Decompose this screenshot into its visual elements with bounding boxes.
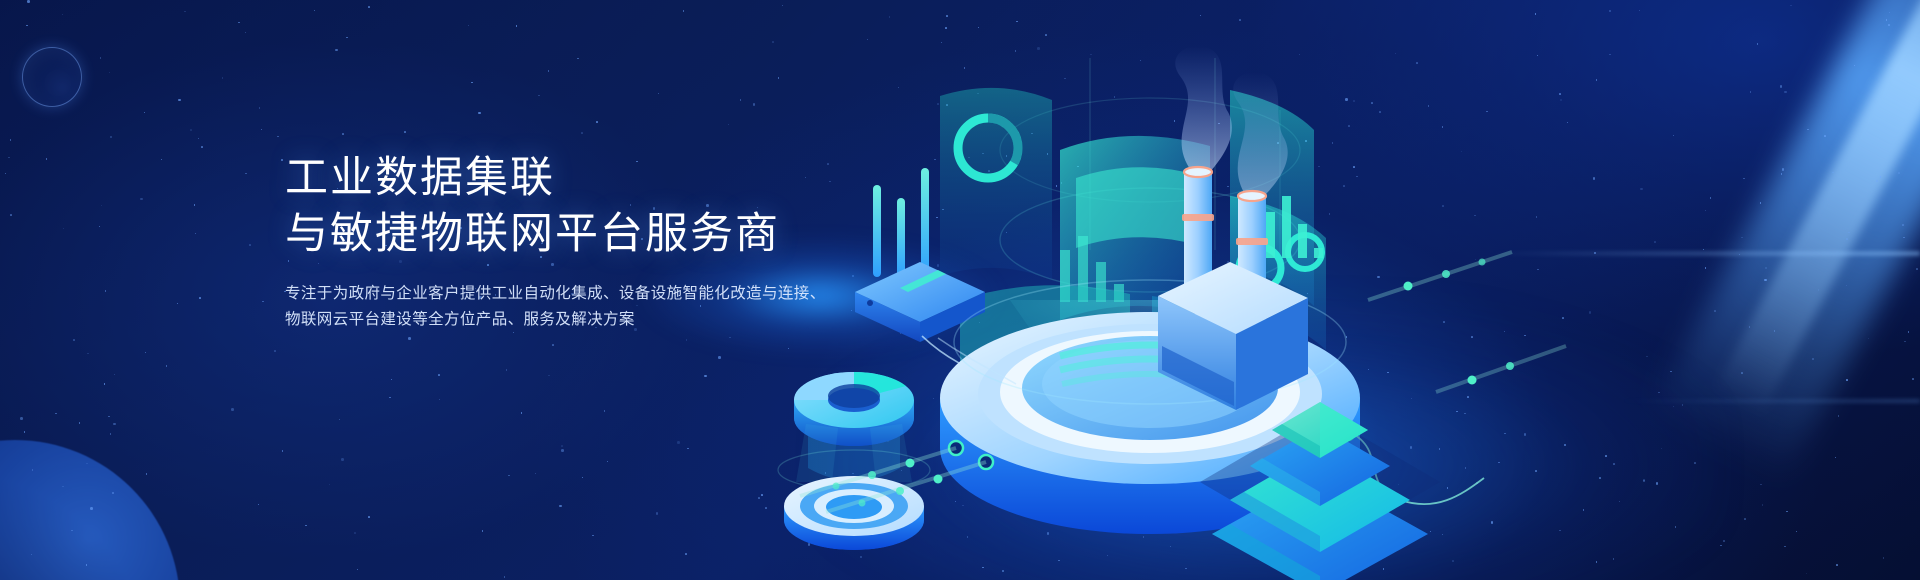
planet-sphere: [0, 440, 180, 580]
subtitle-line-2: 物联网云平台建设等全方位产品、服务及解决方案: [285, 307, 845, 333]
hero-banner: 工业数据集联 与敏捷物联网平台服务商 专注于为政府与企业客户提供工业自动化集成、…: [0, 0, 1920, 580]
illustration: [760, 0, 1920, 580]
subtitle-line-1: 专注于为政府与企业客户提供工业自动化集成、设备设施智能化改造与连接、: [285, 281, 845, 307]
crescent-moon-icon: [22, 47, 82, 107]
data-link-lines-right: [1368, 252, 1566, 392]
smoke-plume: [1175, 46, 1232, 172]
headline-line-1: 工业数据集联: [285, 150, 845, 206]
hero-copy: 工业数据集联 与敏捷物联网平台服务商 专注于为政府与企业客户提供工业自动化集成、…: [285, 150, 845, 333]
pie-cylinder: [778, 372, 930, 490]
headline-line-2: 与敏捷物联网平台服务商: [285, 206, 845, 262]
